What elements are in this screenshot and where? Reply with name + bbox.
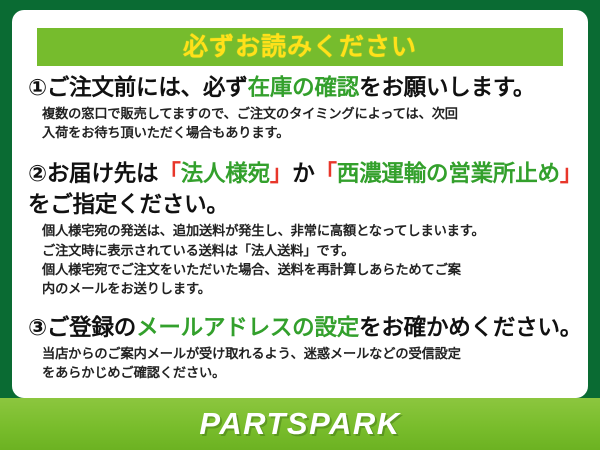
notice-item-1-heading: ①ご注文前には、必ず在庫の確認をお願いします。 (28, 72, 596, 103)
notice-item-3-subtext: 当店からのご案内メールが受け取れるよう、迷惑メールなどの受信設定 をあらかじめご… (28, 344, 596, 382)
notice-header-title: 必ずお読みください (183, 35, 417, 60)
brand-logo-partspark: PARTSPARK (199, 406, 400, 442)
notice-card: 必ずお読みください ①ご注文前には、必ず在庫の確認をお願いします。 複数の窓口で… (12, 10, 588, 398)
notice-item-3-number: ③ (28, 315, 47, 340)
item-spacer-2 (28, 300, 596, 312)
notice-item-3-text-part1: ご登録の (47, 315, 136, 340)
notice-body: ①ご注文前には、必ず在庫の確認をお願いします。 複数の窓口で販売してますので、ご… (28, 72, 596, 384)
notice-item-3: ③ご登録のメールアドレスの設定をお確かめください。 当店からのご案内メールが受け… (28, 312, 596, 382)
notice-item-2-subtext: 個人様宅宛の発送は、追加送料が発生し、非常に高額となってしまいます。 ご注文時に… (28, 221, 596, 298)
notice-item-2-highlight-1: 法人様宛 (181, 161, 270, 186)
notice-item-1-subtext-line-2: 入荷をお待ち頂いただく場合もあります。 (42, 123, 596, 142)
notice-item-2-text-part2: か (292, 161, 314, 186)
notice-footer: PARTSPARK (0, 398, 600, 450)
notice-item-1-text-part2: をお願いします。 (359, 75, 535, 100)
notice-item-3-text-part2: をお確かめください。 (359, 315, 582, 340)
notice-item-2-bracket-open-1: 「 (158, 161, 180, 186)
notice-item-3-heading: ③ご登録のメールアドレスの設定をお確かめください。 (28, 312, 596, 343)
notice-item-2-heading-line-2: をご指定ください。 (28, 189, 596, 220)
notice-item-1-highlight: 在庫の確認 (248, 75, 360, 100)
notice-item-3-subtext-line-1: 当店からのご案内メールが受け取れるよう、迷惑メールなどの受信設定 (42, 344, 596, 363)
notice-item-1-text-part1: ご注文前には、必ず (47, 75, 248, 100)
notice-item-2-subtext-line-1: 個人様宅宛の発送は、追加送料が発生し、非常に高額となってしまいます。 (42, 221, 596, 240)
notice-item-2-bracket-open-2: 「 (315, 161, 337, 186)
notice-item-2-bracket-close-1: 」 (270, 161, 292, 186)
item-spacer-1 (28, 144, 596, 158)
notice-header-bar: 必ずお読みください (37, 28, 563, 66)
notice-item-2-subtext-line-4: 内のメールをお送りします。 (42, 279, 596, 298)
notice-item-2-heading-line-1: ②お届け先は「法人様宛」か「西濃運輸の営業所止め」 (28, 158, 596, 189)
notice-item-2-highlight-2: 西濃運輸の営業所止め (337, 161, 560, 186)
notice-item-1-subtext-line-1: 複数の窓口で販売してますので、ご注文のタイミングによっては、次回 (42, 104, 596, 123)
notice-item-2-subtext-line-3: 個人様宅宛でご注文をいただいた場合、送料を再計算しあらためてご案 (42, 260, 596, 279)
notice-item-2: ②お届け先は「法人様宛」か「西濃運輸の営業所止め」 をご指定ください。 個人様宅… (28, 158, 596, 298)
notice-item-3-subtext-line-2: をあらかじめご確認ください。 (42, 363, 596, 382)
notice-item-2-subtext-line-2: ご注文時に表示されている送料は「法人送料」です。 (42, 241, 596, 260)
notice-item-2-text-part1: お届け先は (47, 161, 159, 186)
notice-item-3-highlight: メールアドレスの設定 (136, 315, 359, 340)
notice-item-2-bracket-close-2: 」 (560, 161, 582, 186)
notice-item-1-subtext: 複数の窓口で販売してますので、ご注文のタイミングによっては、次回 入荷をお待ち頂… (28, 104, 596, 142)
notice-item-1-number: ① (28, 75, 47, 100)
notice-item-2-number: ② (28, 161, 47, 186)
notice-item-1: ①ご注文前には、必ず在庫の確認をお願いします。 複数の窓口で販売してますので、ご… (28, 72, 596, 142)
notice-frame: 必ずお読みください ①ご注文前には、必ず在庫の確認をお願いします。 複数の窓口で… (0, 0, 600, 450)
